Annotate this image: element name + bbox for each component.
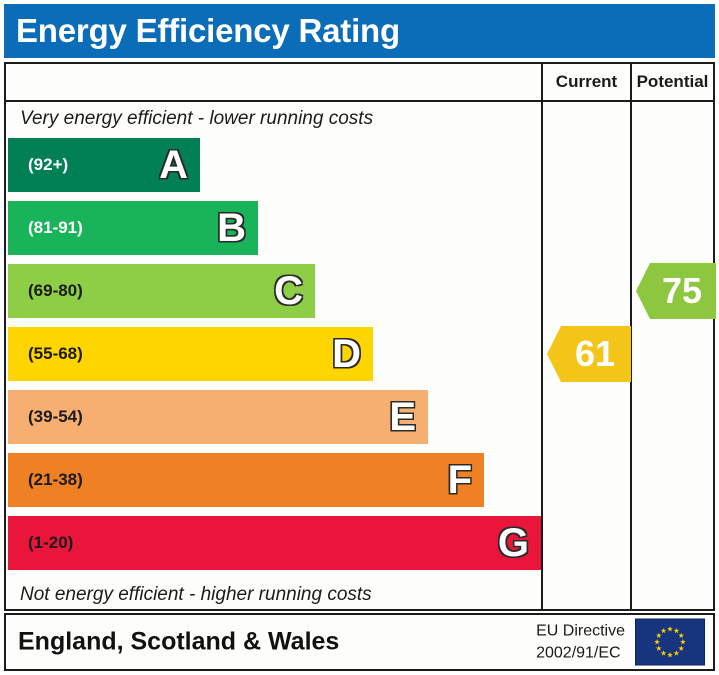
band-letter-e: E: [389, 397, 416, 437]
band-range-f: (21-38): [28, 470, 83, 490]
band-bar-a: (92+)A: [8, 138, 200, 192]
header-divider: [6, 100, 713, 102]
band-bars: (92+)A(81-91)B(69-80)C(55-68)D(39-54)E(2…: [8, 138, 541, 580]
directive-line-1: EU Directive: [536, 620, 625, 642]
energy-efficiency-rating-chart: Energy Efficiency Rating Current Potenti…: [0, 0, 719, 675]
band-bar-d: (55-68)D: [8, 327, 373, 381]
rating-table: Current Potential Very energy efficient …: [4, 62, 715, 611]
page-title: Energy Efficiency Rating: [16, 12, 400, 50]
band-bar-f: (21-38)F: [8, 453, 484, 507]
band-letter-d: D: [332, 334, 361, 374]
rating-arrow-potential: 75: [636, 263, 716, 319]
footer-region-label: England, Scotland & Wales: [18, 628, 339, 657]
band-range-b: (81-91): [28, 218, 83, 238]
current-column-divider: [541, 64, 543, 609]
band-bar-c: (69-80)C: [8, 264, 315, 318]
column-header-potential: Potential: [632, 64, 713, 100]
eu-flag-icon: [635, 619, 705, 666]
rating-value-current: 61: [563, 336, 615, 372]
band-bar-g: (1-20)G: [8, 516, 541, 570]
band-letter-c: C: [274, 271, 303, 311]
eu-flag-stars: [636, 620, 704, 665]
band-range-e: (39-54): [28, 407, 83, 427]
band-range-a: (92+): [28, 155, 68, 175]
caption-top: Very energy efficient - lower running co…: [20, 108, 373, 130]
directive-line-2: 2002/91/EC: [536, 642, 625, 664]
band-letter-g: G: [498, 523, 529, 563]
band-letter-f: F: [448, 460, 472, 500]
caption-bottom: Not energy efficient - higher running co…: [20, 584, 372, 606]
chart-footer: England, Scotland & Wales EU Directive 2…: [4, 613, 715, 671]
band-range-c: (69-80): [28, 281, 83, 301]
footer-directive-label: EU Directive 2002/91/EC: [536, 620, 625, 663]
band-range-d: (55-68): [28, 344, 83, 364]
column-header-current: Current: [543, 64, 630, 100]
band-bar-e: (39-54)E: [8, 390, 428, 444]
rating-value-potential: 75: [650, 273, 702, 309]
band-range-g: (1-20): [28, 533, 73, 553]
chart-title-bar: Energy Efficiency Rating: [4, 4, 715, 58]
band-letter-b: B: [217, 208, 246, 248]
band-bar-b: (81-91)B: [8, 201, 258, 255]
band-letter-a: A: [159, 145, 188, 185]
rating-arrow-current: 61: [547, 326, 631, 382]
